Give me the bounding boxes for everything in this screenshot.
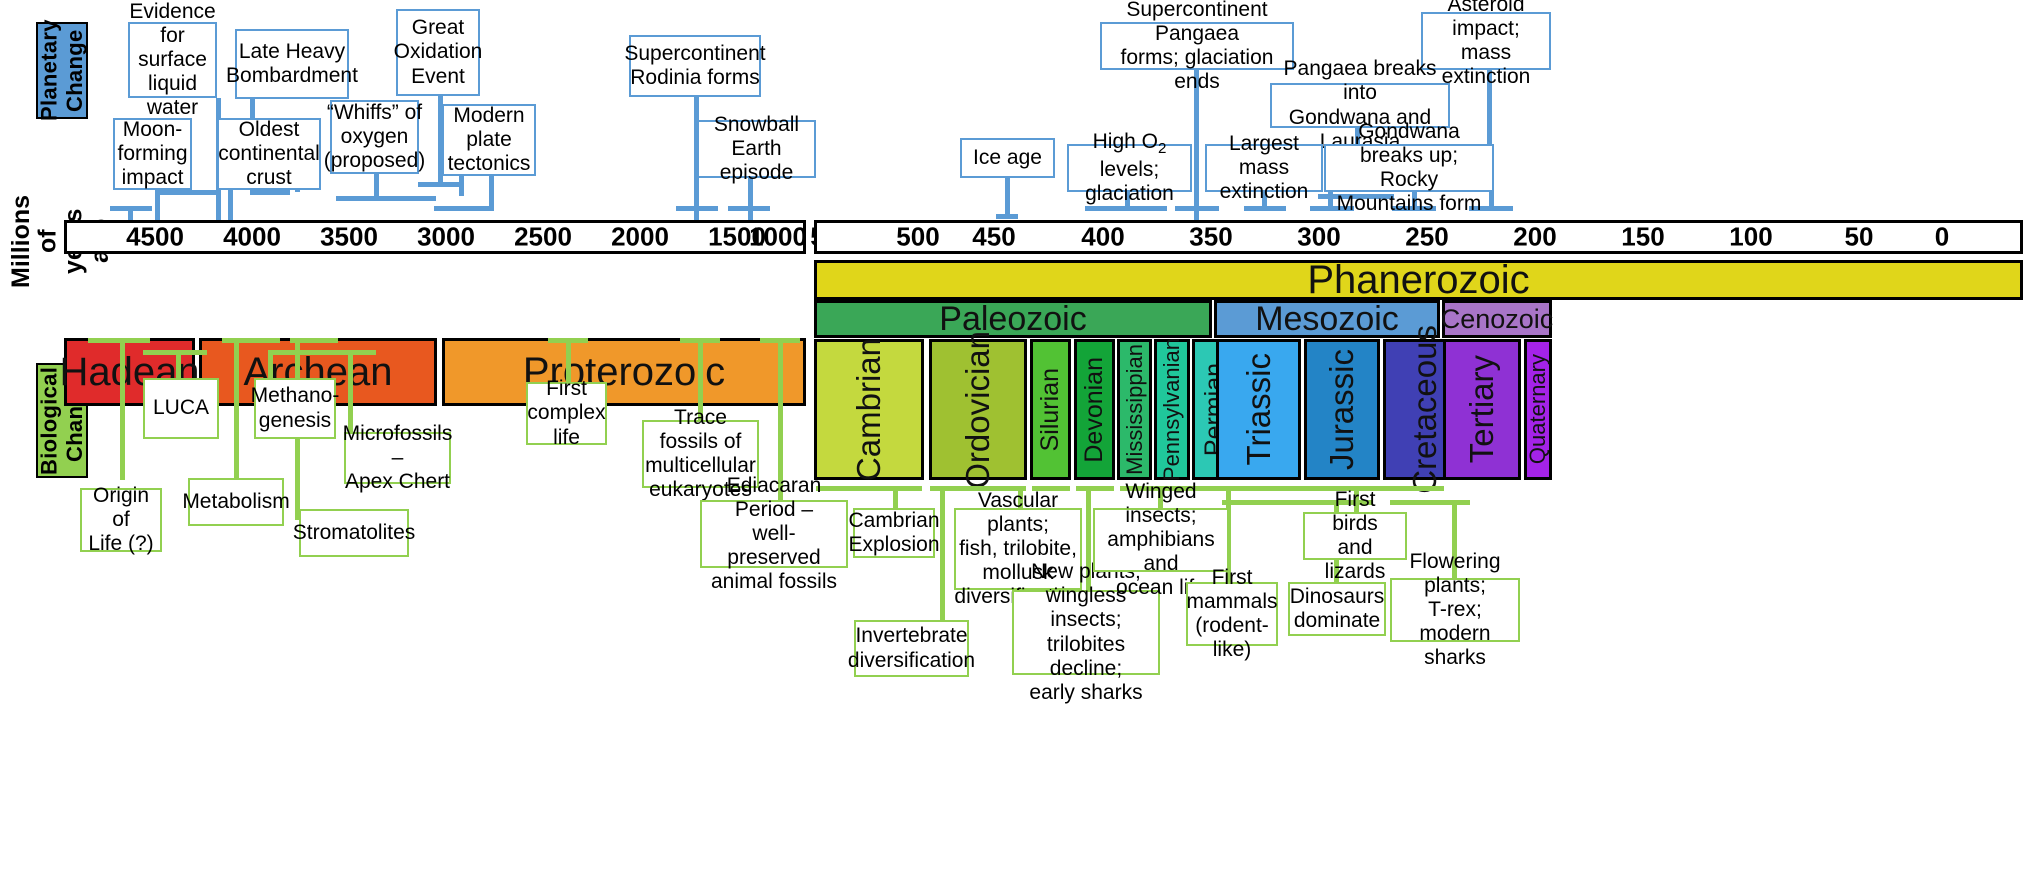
biological-event-box[interactable]: LUCA (143, 378, 219, 439)
biological-event-box[interactable]: Flowering plants; T-rex; modern sharks (1390, 578, 1520, 642)
axis-tick: 4000 (223, 222, 281, 253)
planetary-event-label: Modern plate tectonics (448, 104, 531, 176)
precambrian-axis: 4500 4000 3500 3000 2500 2000 1500 1000 … (64, 220, 806, 254)
planetary-event-box[interactable]: Supercontinent Pangaea forms; glaciation… (1100, 22, 1294, 70)
eon-bar-proterozoic[interactable]: Proterozoic (442, 338, 806, 406)
axis-tick: 400 (1081, 222, 1124, 253)
planetary-event-label: Largest mass extinction (1211, 132, 1317, 204)
axis-tick: 200 (1513, 222, 1556, 253)
period-label: Quaternary (1525, 354, 1551, 464)
biological-event-label: First birds and lizards (1309, 488, 1401, 585)
y-axis-caption: Millions of years ago (8, 186, 58, 296)
period-column-quaternary[interactable]: Quaternary (1524, 339, 1552, 480)
planetary-event-box[interactable]: Late Heavy Bombardment (235, 29, 349, 99)
planetary-event-label: “Whiffs” of oxygen (proposed) (324, 101, 426, 173)
planetary-event-box[interactable]: Largest mass extinction (1205, 144, 1323, 192)
biological-event-label: Metabolism (182, 490, 289, 514)
planetary-event-box[interactable]: Oldest continental crust (217, 118, 321, 190)
biological-event-box[interactable]: First birds and lizards (1303, 512, 1407, 560)
period-column-tertiary[interactable]: Tertiary (1443, 339, 1521, 480)
biological-event-box[interactable]: Stromatolites (299, 509, 409, 557)
connector-line (234, 338, 239, 488)
period-label: Triassic (1240, 353, 1278, 465)
connector-line (250, 190, 290, 195)
period-column-silurian[interactable]: Silurian (1030, 339, 1071, 480)
period-label: Jurassic (1323, 349, 1361, 470)
eon-bar-phanerozoic[interactable]: Phanerozoic (814, 260, 2023, 300)
period-column-triassic[interactable]: Triassic (1216, 339, 1301, 480)
legend-planetary-label: Planetary Change (37, 20, 88, 122)
planetary-event-label: Oldest continental crust (218, 118, 320, 190)
period-column-ordovician[interactable]: Ordovician (929, 339, 1027, 480)
axis-tick: 4500 (126, 222, 184, 253)
biological-event-label: First mammals (rodent-like) (1187, 566, 1278, 663)
connector-line (88, 338, 150, 343)
connector-line (314, 350, 376, 355)
biological-event-label: Microfossils – Apex Chert (343, 422, 453, 494)
connector-line (459, 176, 464, 196)
axis-tick: 1000 (749, 222, 807, 253)
planetary-event-box[interactable]: Supercontinent Rodinia forms (629, 35, 761, 97)
biological-event-label: LUCA (153, 396, 209, 420)
axis-tick: 50 (1845, 222, 1874, 253)
connector-line (374, 174, 379, 196)
connector-line (1244, 206, 1286, 211)
axis-tick: 100 (1729, 222, 1772, 253)
axis-tick: 300 (1297, 222, 1340, 253)
axis-tick: 2500 (514, 222, 572, 253)
planetary-event-box[interactable]: Modern plate tectonics (442, 104, 536, 176)
connector-line (676, 206, 718, 211)
connector-line (110, 206, 152, 211)
axis-tick: 3500 (320, 222, 378, 253)
biological-event-box[interactable]: Invertebrate diversification (854, 620, 969, 677)
connector-line (996, 214, 1018, 219)
eon-label: Phanerozoic (1307, 258, 1529, 303)
axis-tick: 500 (896, 222, 939, 253)
planetary-event-label: Moon- forming impact (117, 118, 187, 190)
connector-line (1175, 206, 1219, 211)
planetary-event-label: Supercontinent Pangaea forms; glaciation… (1106, 0, 1288, 94)
period-column-jurassic[interactable]: Jurassic (1304, 339, 1380, 480)
planetary-event-box[interactable]: Ice age (960, 138, 1055, 178)
axis-tick: 3000 (417, 222, 475, 253)
planetary-event-box[interactable]: Moon- forming impact (113, 118, 192, 190)
connector-line (760, 338, 800, 343)
axis-tick: 350 (1189, 222, 1232, 253)
biological-event-label: Dinosaurs dominate (1290, 585, 1385, 633)
biological-event-box[interactable]: Metabolism (188, 478, 284, 526)
planetary-event-box[interactable]: Great Oxidation Event (396, 9, 480, 96)
period-column-devonian[interactable]: Devonian (1074, 339, 1115, 480)
period-column-cambrian[interactable]: Cambrian (814, 339, 924, 480)
connector-line (268, 350, 320, 355)
biological-event-label: Origin of Life (?) (86, 484, 156, 556)
planetary-event-box[interactable]: Snowball Earth episode (697, 120, 816, 178)
planetary-event-box[interactable]: Gondwana breaks up; Rocky Mountains form (1324, 144, 1494, 192)
connector-line (155, 190, 220, 195)
connector-line (336, 196, 436, 201)
period-label: Tertiary (1463, 355, 1501, 463)
phanerozoic-axis: 500 450 400 350 300 250 200 150 100 50 0 (814, 220, 2023, 254)
planetary-event-label: Snowball Earth episode (703, 113, 810, 185)
connector-line (222, 338, 280, 343)
era-label: Mesozoic (1255, 300, 1399, 339)
connector-line (489, 176, 494, 210)
biological-event-box[interactable]: Microfossils – Apex Chert (344, 432, 451, 484)
era-label: Cenozoic (1441, 304, 1554, 335)
biological-event-label: Flowering plants; T-rex; modern sharks (1396, 550, 1514, 671)
biological-event-box[interactable]: Methano- genesis (254, 378, 336, 439)
legend-planetary-change: Planetary Change (36, 22, 88, 119)
connector-line (1085, 206, 1167, 211)
biological-event-label: Cambrian Explosion (848, 509, 939, 557)
planetary-event-label: Late Heavy Bombardment (226, 40, 358, 88)
planetary-event-label: Great Oxidation Event (394, 16, 483, 88)
connector-line (940, 486, 945, 620)
planetary-event-label: Ice age (973, 146, 1042, 170)
planetary-event-label: Supercontinent Rodinia forms (624, 42, 765, 90)
connector-line (268, 350, 273, 378)
period-label: Silurian (1036, 368, 1065, 451)
biological-event-label: Stromatolites (293, 521, 416, 545)
connector-line (176, 350, 181, 378)
biological-event-label: Invertebrate diversification (848, 624, 975, 672)
connector-line (1005, 178, 1010, 218)
planetary-event-label: High O2 levels;glaciation (1073, 130, 1186, 206)
connector-line (120, 338, 125, 480)
planetary-event-box[interactable]: High O2 levels;glaciation (1067, 144, 1192, 192)
period-label: Cambrian (850, 338, 888, 481)
biological-event-label: First complex life (527, 377, 605, 449)
period-label: Mississippian (1122, 344, 1148, 475)
period-column-pennsylvanian[interactable]: Pennsylvanian (1154, 339, 1190, 480)
connector-line (548, 338, 588, 343)
planetary-event-label: Evidence for surface liquid water (129, 0, 215, 120)
biological-event-box[interactable]: Winged insects; amphibians and ocean lif… (1093, 508, 1229, 572)
biological-event-box[interactable]: First mammals (rodent-like) (1186, 582, 1278, 646)
period-column-mississippian[interactable]: Mississippian (1117, 339, 1152, 480)
planetary-event-box[interactable]: Evidence for surface liquid water (128, 22, 217, 98)
biological-event-box[interactable]: New plants; wingless insects; trilobites… (1012, 590, 1160, 675)
axis-tick: 450 (972, 222, 1015, 253)
axis-tick: 0 (1935, 222, 1949, 253)
biological-event-box[interactable]: Ediacaran Period – well-preserved animal… (700, 500, 848, 568)
period-label: Ordovician (959, 331, 997, 489)
connector-line (1390, 500, 1470, 505)
connector-line (434, 206, 494, 211)
era-bar-cenozoic[interactable]: Cenozoic (1442, 300, 1552, 338)
axis-tick: 250 (1405, 222, 1448, 253)
axis-tick: 2000 (611, 222, 669, 253)
axis-tick: 150 (1621, 222, 1664, 253)
connector-line (143, 350, 207, 355)
connector-line (348, 350, 353, 432)
planetary-event-label: Asteroid impact; mass extinction (1427, 0, 1545, 89)
planetary-event-label: Gondwana breaks up; Rocky Mountains form (1330, 120, 1488, 217)
connector-line (566, 338, 571, 382)
connector-line (680, 338, 720, 343)
period-label: Pennsylvanian (1159, 338, 1185, 481)
biological-event-label: Ediacaran Period – well-preserved animal… (706, 474, 842, 595)
planetary-event-box[interactable]: “Whiffs” of oxygen (proposed) (330, 100, 419, 174)
era-bar-paleozoic[interactable]: Paleozoic (814, 300, 1212, 338)
connector-line (893, 486, 898, 508)
biological-event-box[interactable]: Dinosaurs dominate (1288, 582, 1386, 636)
biological-event-box[interactable]: Cambrian Explosion (853, 508, 935, 558)
biological-event-label: Methano- genesis (251, 384, 340, 432)
biological-event-box[interactable]: First complex life (526, 382, 607, 445)
period-label: Cretaceous (1406, 325, 1444, 494)
connector-line (728, 206, 770, 211)
biological-event-box[interactable]: Origin of Life (?) (80, 488, 162, 552)
period-label: Devonian (1080, 357, 1109, 463)
connector-line (418, 182, 462, 187)
